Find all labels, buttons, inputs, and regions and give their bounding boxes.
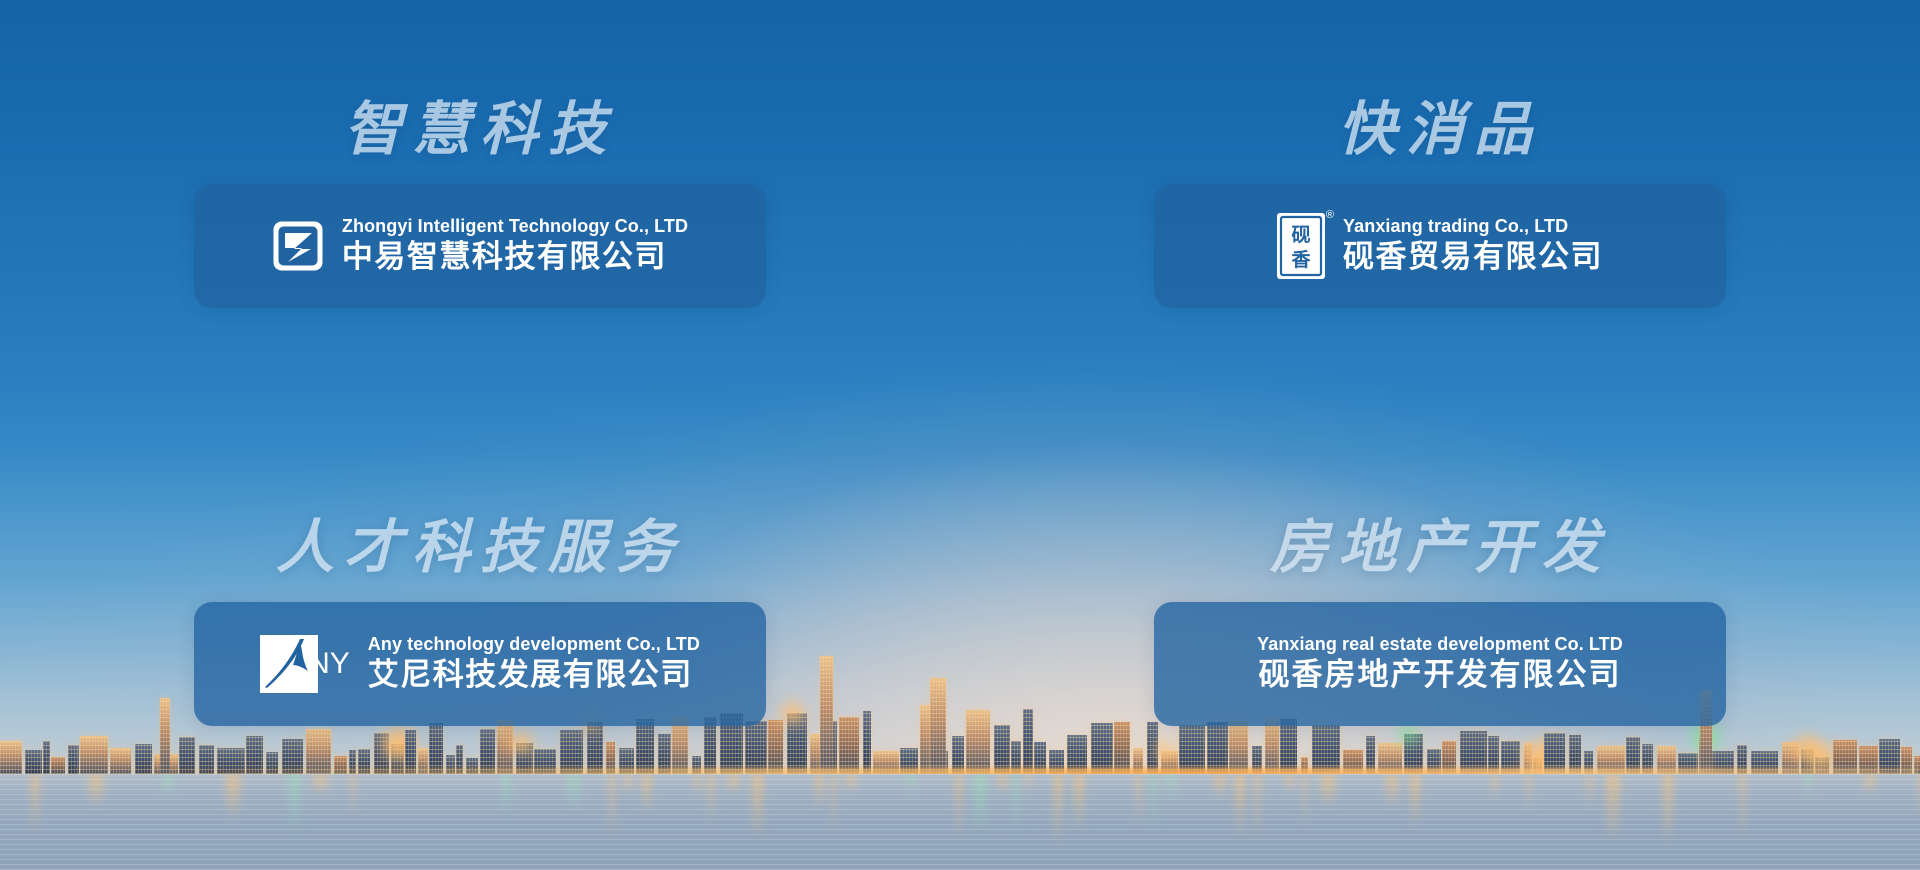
company-name-cn: 中易智慧科技有限公司 [342, 237, 688, 277]
registered-trademark-icon: ® [1326, 210, 1334, 221]
sector-heading-talent-services: 人才科技服务 [276, 516, 684, 580]
company-name-cn: 砚香房地产开发有限公司 [1259, 655, 1622, 695]
zhongyi-names: Zhongyi Intelligent Technology Co., LTD … [342, 215, 688, 277]
sector-heading-smart-technology: 智慧科技 [344, 98, 616, 162]
yanxiang-trading-names: Yanxiang trading Co., LTD 砚香贸易有限公司 [1343, 215, 1603, 277]
yanxiang-real-estate-names: Yanxiang real estate development Co. LTD… [1257, 633, 1623, 695]
sector-real-estate: 房地产开发 Yanxiang real estate development C… [960, 472, 1920, 870]
hero-banner: 智慧科技 Zhongyi Intelligent Technology Co.,… [0, 0, 1920, 870]
sector-talent-services: 人才科技服务 NY [0, 472, 960, 870]
company-card-yanxiang-trading[interactable]: 砚 香 ® Yanxiang trading Co., LTD 砚香贸易有限公司 [1154, 184, 1726, 308]
any-logo: NY [260, 635, 350, 693]
company-name-en: Any technology development Co., LTD [368, 633, 700, 656]
svg-text:香: 香 [1290, 249, 1311, 271]
company-card-zhongyi[interactable]: Zhongyi Intelligent Technology Co., LTD … [194, 184, 766, 308]
company-name-cn: 砚香贸易有限公司 [1343, 237, 1603, 277]
zhongyi-logo [272, 220, 324, 272]
any-logo-text: NY [308, 649, 350, 679]
sector-heading-fmcg: 快消品 [1338, 98, 1542, 162]
company-card-any[interactable]: NY Any technology development Co., LTD 艾… [194, 602, 766, 726]
sector-smart-technology: 智慧科技 Zhongyi Intelligent Technology Co.,… [0, 74, 960, 472]
sector-heading-real-estate: 房地产开发 [1270, 516, 1610, 580]
company-name-en: Zhongyi Intelligent Technology Co., LTD [342, 215, 688, 238]
company-name-en: Yanxiang real estate development Co. LTD [1257, 633, 1623, 656]
yanxiang-seal-logo: 砚 香 ® [1277, 213, 1325, 279]
sector-fmcg: 快消品 砚 香 ® [960, 74, 1920, 472]
company-card-yanxiang-real-estate[interactable]: Yanxiang real estate development Co. LTD… [1154, 602, 1726, 726]
sectors-grid: 智慧科技 Zhongyi Intelligent Technology Co.,… [0, 0, 1920, 870]
svg-text:砚: 砚 [1291, 224, 1310, 246]
company-name-cn: 艾尼科技发展有限公司 [368, 655, 700, 695]
company-name-en: Yanxiang trading Co., LTD [1343, 215, 1603, 238]
any-names: Any technology development Co., LTD 艾尼科技… [368, 633, 700, 695]
